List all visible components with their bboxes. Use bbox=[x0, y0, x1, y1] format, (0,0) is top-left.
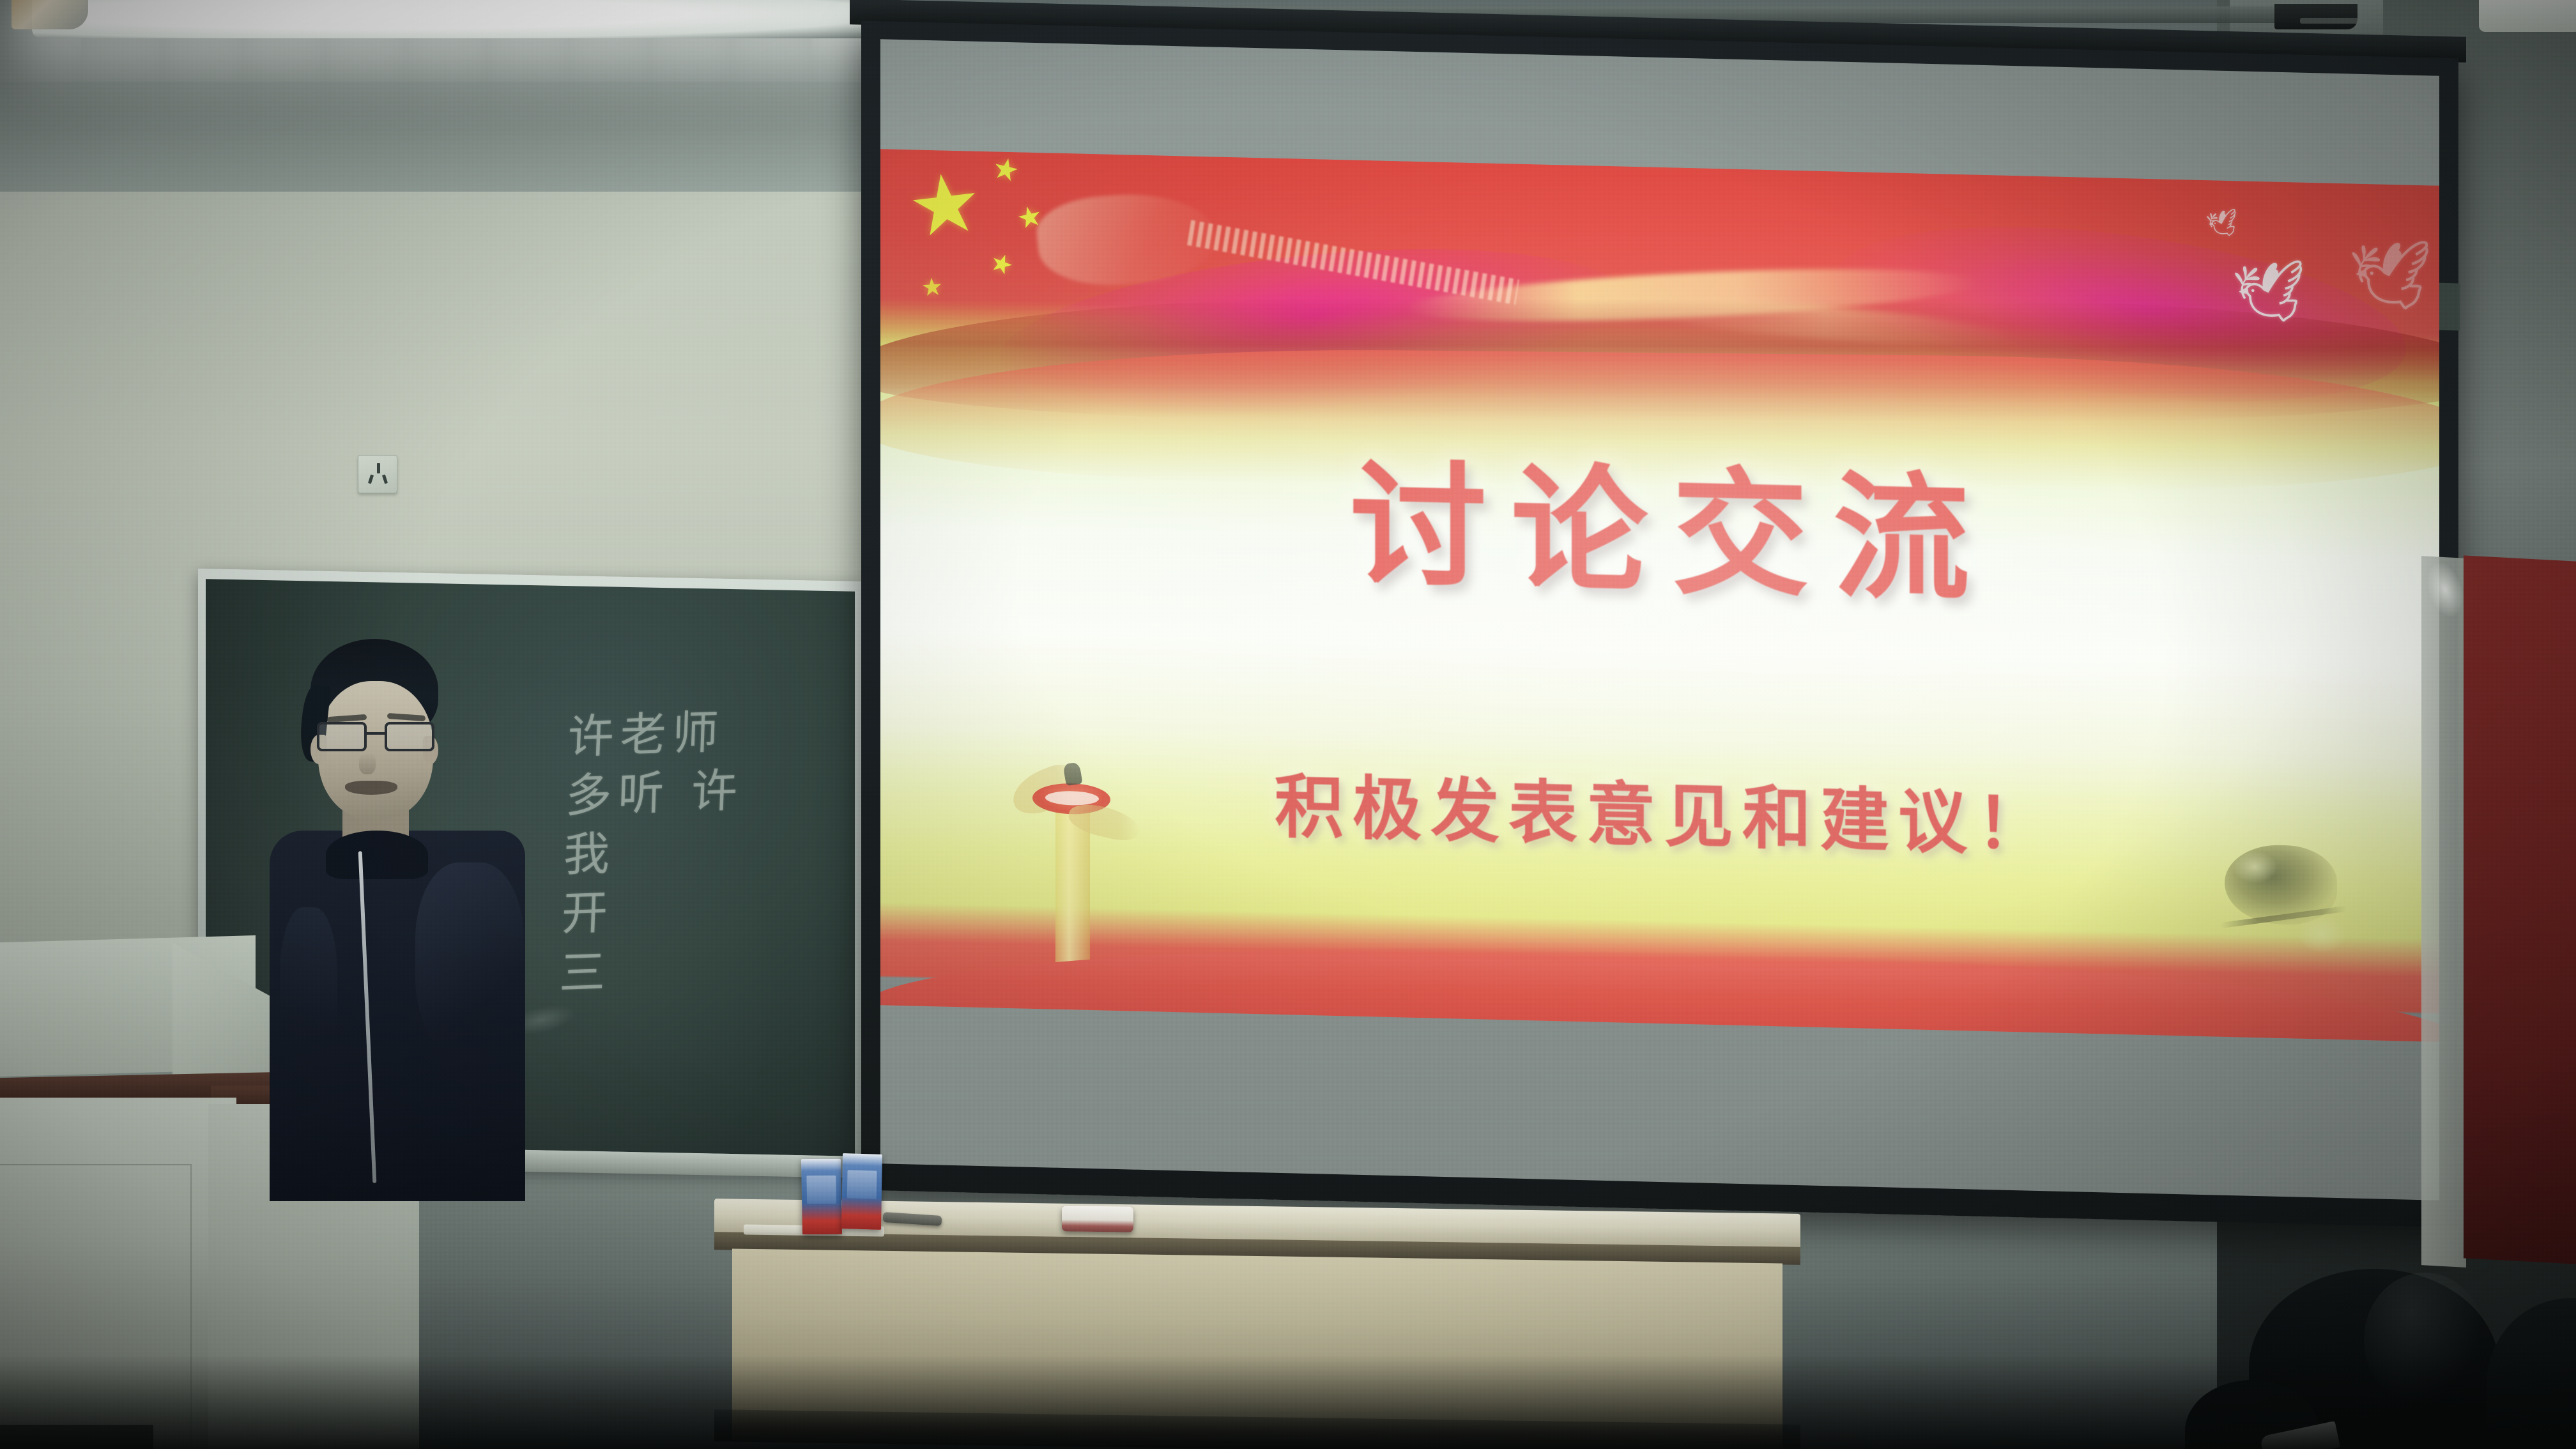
outlet-slot-left bbox=[368, 475, 374, 484]
chalk-box-2[interactable] bbox=[841, 1153, 882, 1230]
slide-title: 讨论交流 bbox=[880, 403, 2439, 638]
outlet-slot-vertical bbox=[377, 463, 380, 473]
blossom-highlight-2 bbox=[2297, 915, 2346, 953]
chalk-box-label-1 bbox=[806, 1176, 836, 1204]
presenter-mouth bbox=[345, 781, 397, 795]
presentation-slide: ★ ★ ★ ★ ★ 🕊 🕊 🕊 🕊 讨论交流 积极发表意见和建议！ bbox=[880, 149, 2439, 1042]
podium-base-shadow bbox=[0, 1425, 153, 1449]
presenter-collar bbox=[326, 831, 428, 879]
presenter-shoulder-highlight bbox=[415, 862, 524, 1054]
board-eraser[interactable] bbox=[1062, 1206, 1133, 1232]
light-fixture-end-cap bbox=[11, 0, 88, 29]
glasses-lens-right bbox=[385, 722, 434, 751]
flag-star-large-icon: ★ bbox=[903, 160, 987, 250]
fluorescent-light-right-icon bbox=[2479, 0, 2576, 32]
glasses-bridge bbox=[367, 732, 386, 735]
presenter-nose bbox=[359, 753, 376, 774]
right-wall-white-strip bbox=[2421, 556, 2466, 1268]
projector-screen: ★ ★ ★ ★ ★ 🕊 🕊 🕊 🕊 讨论交流 积极发表意见和建议！ bbox=[861, 21, 2458, 1228]
right-red-banner bbox=[2464, 555, 2576, 1264]
glasses-icon bbox=[314, 722, 440, 753]
flag-star-small-4-icon: ★ bbox=[920, 275, 944, 300]
dove-1-icon: 🕊 bbox=[2205, 209, 2241, 239]
huabiao-top-beast bbox=[1062, 762, 1083, 786]
presenter-sleeve-highlight bbox=[280, 907, 337, 1073]
fluorescent-light-icon bbox=[32, 0, 875, 38]
dove-2-icon: 🕊 bbox=[2231, 261, 2311, 325]
audience-hair-highlight bbox=[2364, 1273, 2485, 1407]
dove-3-icon: 🕊 bbox=[2348, 241, 2437, 312]
screen-mount-bracket bbox=[2274, 4, 2357, 29]
glasses-lens-left bbox=[317, 722, 367, 751]
classroom-presentation-scene: 许老师 多听 许 我 开 三 ★ ★ ★ ★ ★ 🕊 🕊 🕊 🕊 bbox=[0, 0, 2576, 1449]
podium-panel-outline bbox=[0, 1164, 192, 1445]
presenter-person bbox=[256, 639, 537, 1201]
power-outlet-icon[interactable] bbox=[358, 455, 397, 493]
outlet-slot-right bbox=[382, 475, 388, 484]
chalk-box-label-2 bbox=[847, 1170, 877, 1199]
vent-slot bbox=[2300, 18, 2370, 24]
golden-blossom-icon bbox=[2209, 837, 2356, 968]
chalk-box-1[interactable] bbox=[801, 1159, 842, 1234]
